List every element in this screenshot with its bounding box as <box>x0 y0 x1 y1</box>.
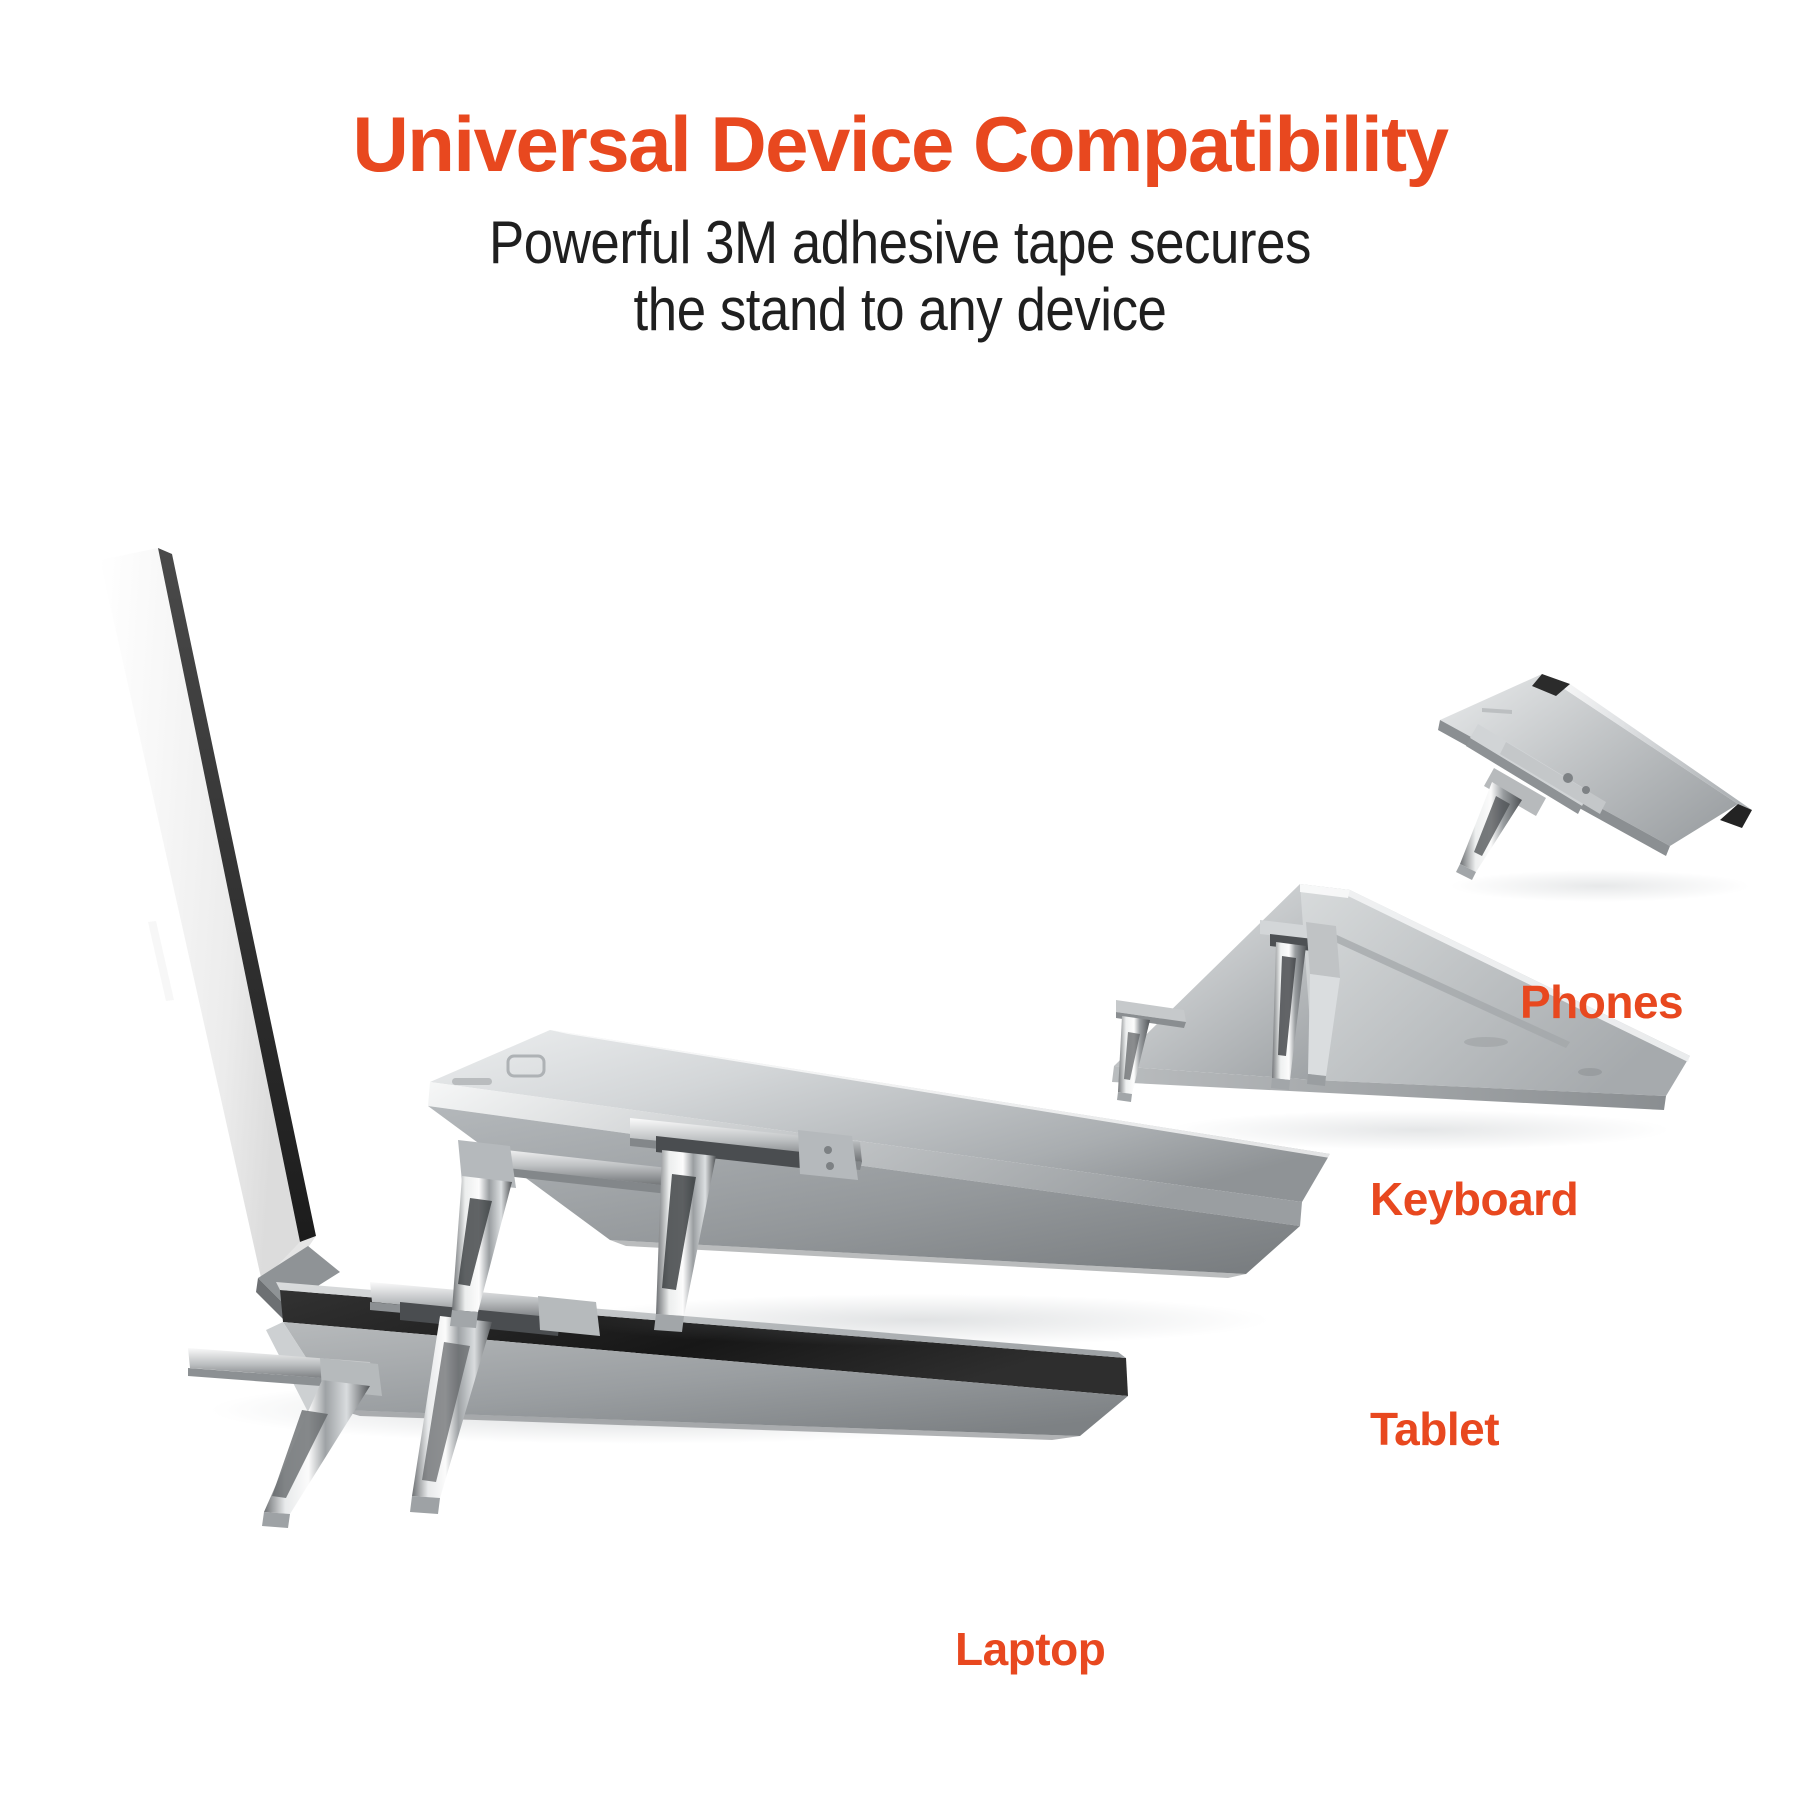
subtitle: Powerful 3M adhesive tape secures the st… <box>108 209 1692 343</box>
subtitle-line-2: the stand to any device <box>108 276 1692 343</box>
subtitle-line-1: Powerful 3M adhesive tape secures <box>108 209 1692 276</box>
device-label-keyboard: Keyboard <box>1370 1172 1578 1226</box>
port-detail <box>452 1078 492 1085</box>
device-label-tablet: Tablet <box>1370 1402 1499 1456</box>
device-label-laptop: Laptop <box>955 1622 1105 1676</box>
keyboard-shadow <box>1170 1110 1670 1150</box>
phone-shadow <box>1450 870 1750 902</box>
stand-leg <box>188 1348 382 1528</box>
phone-illustration <box>1420 650 1760 940</box>
infographic-canvas: Universal Device Compatibility Powerful … <box>0 0 1800 1800</box>
device-label-phones: Phones <box>1520 975 1683 1029</box>
page-title: Universal Device Compatibility <box>0 105 1800 183</box>
laptop-lid <box>100 548 316 1288</box>
header: Universal Device Compatibility Powerful … <box>0 105 1800 343</box>
